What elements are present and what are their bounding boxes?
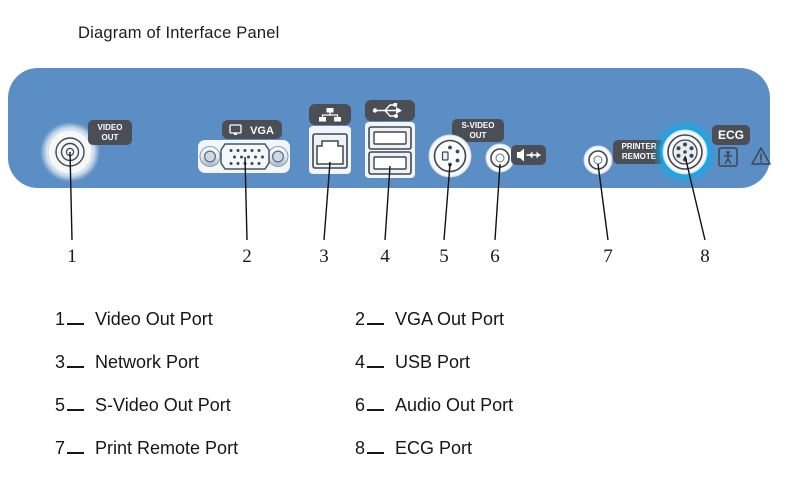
legend-number: 4: [355, 352, 365, 373]
legend-number: 5: [55, 395, 65, 416]
legend-row: 1 Video Out Port 2 VGA Out Port: [0, 298, 788, 341]
legend-item-4: 4 USB Port: [340, 352, 680, 373]
callout-number-5: 5: [439, 246, 449, 268]
callout-number-7: 7: [603, 246, 613, 268]
legend-number: 1: [55, 309, 65, 330]
callout-number-6: 6: [490, 246, 500, 268]
page-title: Diagram of Interface Panel: [78, 24, 279, 43]
legend-label: S-Video Out Port: [95, 395, 231, 416]
legend-item-1: 1 Video Out Port: [0, 309, 340, 330]
interface-panel-diagram: Diagram of Interface Panel: [0, 0, 788, 484]
callout-number-4: 4: [380, 246, 390, 268]
legend-row: 5 S-Video Out Port 6 Audio Out Port: [0, 384, 788, 427]
legend-number: 8: [355, 438, 365, 459]
legend-number: 3: [55, 352, 65, 373]
legend-number: 6: [355, 395, 365, 416]
legend-number: 2: [355, 309, 365, 330]
legend-item-8: 8 ECG Port: [340, 438, 680, 459]
legend-label: Print Remote Port: [95, 438, 238, 459]
legend: 1 Video Out Port 2 VGA Out Port 3 Networ…: [0, 298, 788, 470]
legend-label: ECG Port: [395, 438, 472, 459]
legend-row: 3 Network Port 4 USB Port: [0, 341, 788, 384]
device-rear-panel: [8, 68, 770, 188]
legend-number: 7: [55, 438, 65, 459]
legend-label: Network Port: [95, 352, 199, 373]
legend-dash: [67, 452, 84, 454]
legend-dash: [67, 409, 84, 411]
legend-row: 7 Print Remote Port 8 ECG Port: [0, 427, 788, 470]
callout-number-row: 1 2 3 4 5 6 7 8: [0, 246, 788, 274]
legend-label: VGA Out Port: [395, 309, 504, 330]
legend-dash: [367, 452, 384, 454]
legend-dash: [367, 366, 384, 368]
legend-label: Video Out Port: [95, 309, 213, 330]
legend-dash: [367, 323, 384, 325]
legend-dash: [67, 366, 84, 368]
legend-label: Audio Out Port: [395, 395, 513, 416]
legend-item-5: 5 S-Video Out Port: [0, 395, 340, 416]
legend-item-6: 6 Audio Out Port: [340, 395, 680, 416]
legend-label: USB Port: [395, 352, 470, 373]
legend-item-3: 3 Network Port: [0, 352, 340, 373]
callout-number-3: 3: [319, 246, 329, 268]
callout-number-8: 8: [700, 246, 710, 268]
legend-dash: [367, 409, 384, 411]
callout-number-1: 1: [67, 246, 77, 268]
legend-item-7: 7 Print Remote Port: [0, 438, 340, 459]
callout-number-2: 2: [242, 246, 252, 268]
legend-item-2: 2 VGA Out Port: [340, 309, 680, 330]
legend-dash: [67, 323, 84, 325]
